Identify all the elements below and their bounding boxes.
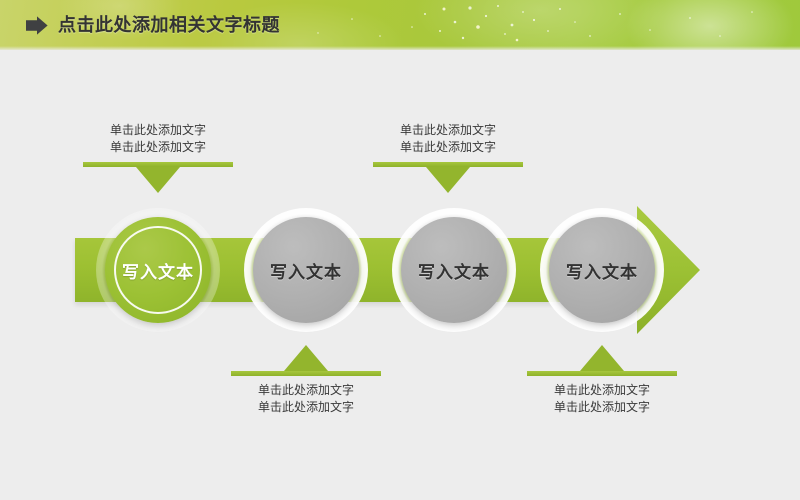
arrow-right-icon — [26, 16, 48, 35]
callout-top-1[interactable]: 单击此处添加文字 单击此处添加文字 — [63, 122, 253, 193]
page-title: 点击此处添加相关文字标题 — [58, 11, 280, 37]
process-node-4[interactable]: 写入文本 — [549, 217, 655, 323]
process-node-4-label: 写入文本 — [566, 258, 638, 283]
callout-pointer-up-icon — [580, 345, 624, 371]
callout-bar — [527, 371, 677, 376]
callout-line-1: 单击此处添加文字 — [211, 382, 401, 399]
process-node-3-label: 写入文本 — [418, 258, 490, 283]
callout-bottom-1[interactable]: 单击此处添加文字 单击此处添加文字 — [211, 345, 401, 416]
callout-line-1: 单击此处添加文字 — [353, 122, 543, 139]
callout-pointer-up-icon — [284, 345, 328, 371]
process-node-2[interactable]: 写入文本 — [253, 217, 359, 323]
callout-bottom-2[interactable]: 单击此处添加文字 单击此处添加文字 — [507, 345, 697, 416]
process-node-1-label: 写入文本 — [122, 258, 194, 283]
callout-bottom-2-text: 单击此处添加文字 单击此处添加文字 — [507, 382, 697, 416]
callout-top-2[interactable]: 单击此处添加文字 单击此处添加文字 — [353, 122, 543, 193]
process-node-2-label: 写入文本 — [270, 258, 342, 283]
callout-top-2-text: 单击此处添加文字 单击此处添加文字 — [353, 122, 543, 156]
callout-pointer-down-icon — [136, 167, 180, 193]
callout-line-2: 单击此处添加文字 — [63, 139, 253, 156]
process-node-3[interactable]: 写入文本 — [401, 217, 507, 323]
callout-line-1: 单击此处添加文字 — [507, 382, 697, 399]
process-node-1[interactable]: 写入文本 — [105, 217, 211, 323]
page-header: 点击此处添加相关文字标题 — [0, 0, 800, 50]
callout-bottom-1-text: 单击此处添加文字 单击此处添加文字 — [211, 382, 401, 416]
callout-line-1: 单击此处添加文字 — [63, 122, 253, 139]
callout-bar — [231, 371, 381, 376]
diagram-stage: 写入文本 写入文本 写入文本 写入文本 单击此处添加文字 单击此处添加文字 单击… — [0, 50, 800, 500]
callout-line-2: 单击此处添加文字 — [353, 139, 543, 156]
callout-line-2: 单击此处添加文字 — [507, 399, 697, 416]
callout-pointer-down-icon — [426, 167, 470, 193]
callout-line-2: 单击此处添加文字 — [211, 399, 401, 416]
callout-top-1-text: 单击此处添加文字 单击此处添加文字 — [63, 122, 253, 156]
